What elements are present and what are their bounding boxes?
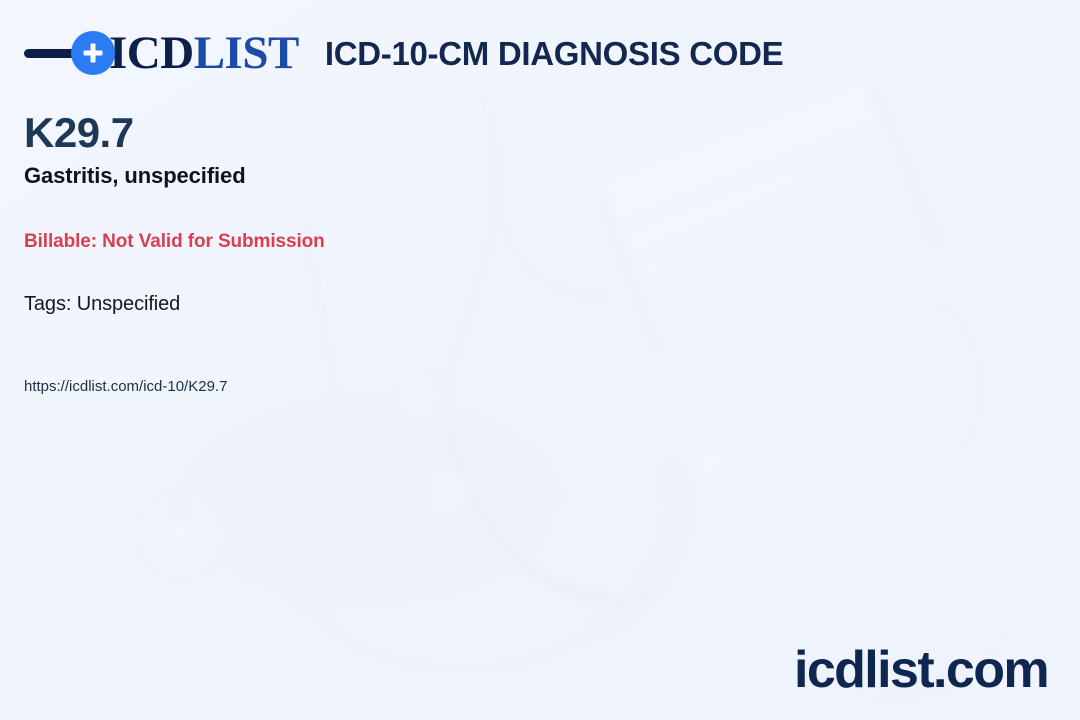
page-title: ICD-10-CM DIAGNOSIS CODE: [325, 37, 784, 70]
source-url[interactable]: https://icdlist.com/icd-10/K29.7: [24, 378, 664, 396]
plus-circle-icon: [71, 31, 115, 75]
icdlist-logo[interactable]: ICDLIST: [24, 24, 299, 82]
diagnosis-code: K29.7: [24, 110, 664, 155]
header: ICDLIST ICD-10-CM DIAGNOSIS CODE: [24, 24, 1056, 82]
logo-word-icd: ICD: [109, 27, 194, 79]
code-details: K29.7 Gastritis, unspecified Billable: N…: [24, 110, 664, 396]
billable-status: Billable: Not Valid for Submission: [24, 231, 664, 254]
diagnosis-description: Gastritis, unspecified: [24, 163, 664, 189]
poster-canvas: ICDLIST ICD-10-CM DIAGNOSIS CODE K29.7 G…: [0, 0, 1080, 720]
brand-watermark: icdlist.com: [794, 644, 1048, 696]
logo-wordmark: ICDLIST: [109, 30, 299, 77]
tags-line: Tags: Unspecified: [24, 292, 664, 316]
logo-word-list: LIST: [194, 27, 299, 79]
